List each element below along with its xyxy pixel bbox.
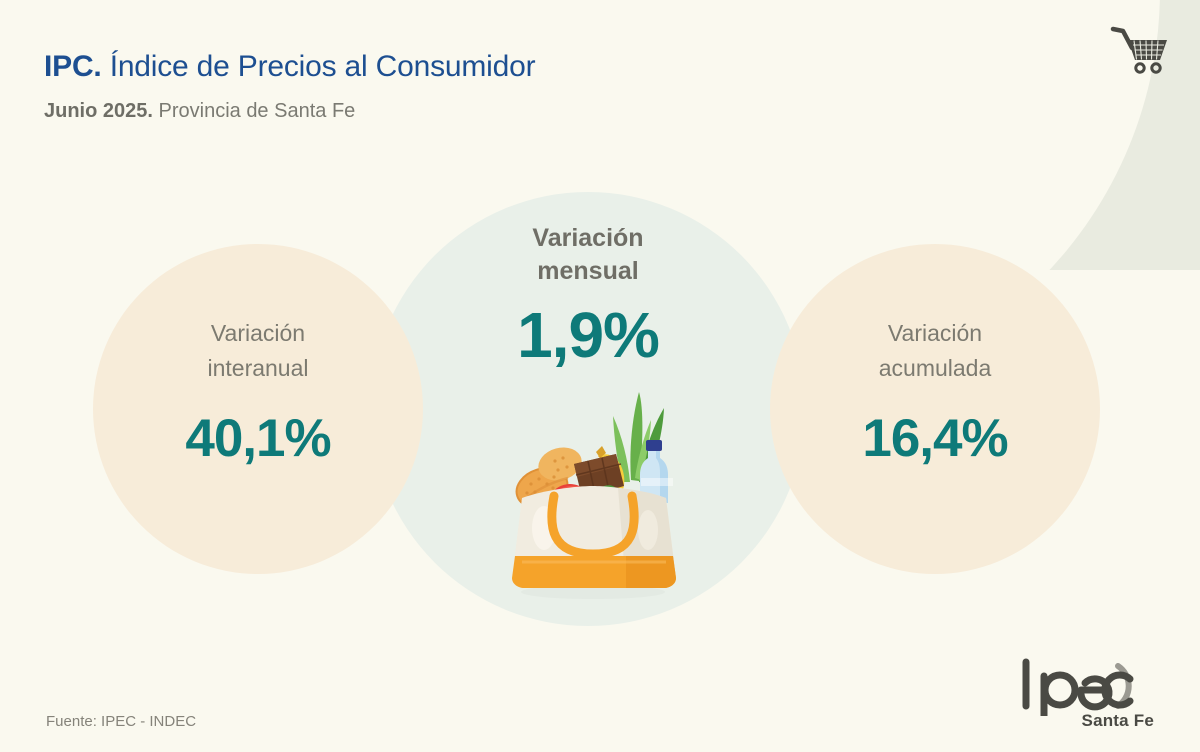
stat-accumulated-value: 16,4% xyxy=(770,410,1100,468)
stat-yearly-value: 40,1% xyxy=(93,410,423,468)
stat-accumulated-label-line1: Variación xyxy=(770,316,1100,351)
page-title-acronym: IPC. xyxy=(44,50,102,83)
page-title-text: Índice de Precios al Consumidor xyxy=(110,50,536,83)
stat-monthly-label-line2: mensual xyxy=(371,255,805,288)
subtitle-period: Junio 2025. xyxy=(44,100,153,122)
bottle-cap xyxy=(646,440,662,451)
header: IPC. Índice de Precios al Consumidor Jun… xyxy=(44,48,535,124)
grocery-tote-bag-illustration xyxy=(498,378,688,603)
ipec-logo-mark xyxy=(1006,654,1156,716)
ipec-logo: Santa Fe xyxy=(1006,654,1156,734)
stat-accumulated: Variación acumulada 16,4% xyxy=(770,316,1100,468)
stat-monthly-value: 1,9% xyxy=(371,302,805,368)
infographic-canvas: IPC. Índice de Precios al Consumidor Jun… xyxy=(0,0,1200,752)
subtitle-region: Provincia de Santa Fe xyxy=(159,100,356,122)
source-note: Fuente: IPEC - INDEC xyxy=(46,713,196,730)
page-title: IPC. Índice de Precios al Consumidor xyxy=(44,48,535,86)
stat-monthly-label: Variación mensual xyxy=(371,222,805,288)
stat-monthly-label-line1: Variación xyxy=(371,222,805,255)
shopping-cart-icon xyxy=(1110,22,1172,76)
ipec-logo-subtitle: Santa Fe xyxy=(1082,711,1154,731)
page-subtitle: Junio 2025. Provincia de Santa Fe xyxy=(44,98,535,124)
tote-bag xyxy=(512,486,676,588)
stat-monthly: Variación mensual 1,9% xyxy=(371,222,805,368)
stat-accumulated-label: Variación acumulada xyxy=(770,316,1100,386)
stat-accumulated-label-line2: acumulada xyxy=(770,351,1100,386)
